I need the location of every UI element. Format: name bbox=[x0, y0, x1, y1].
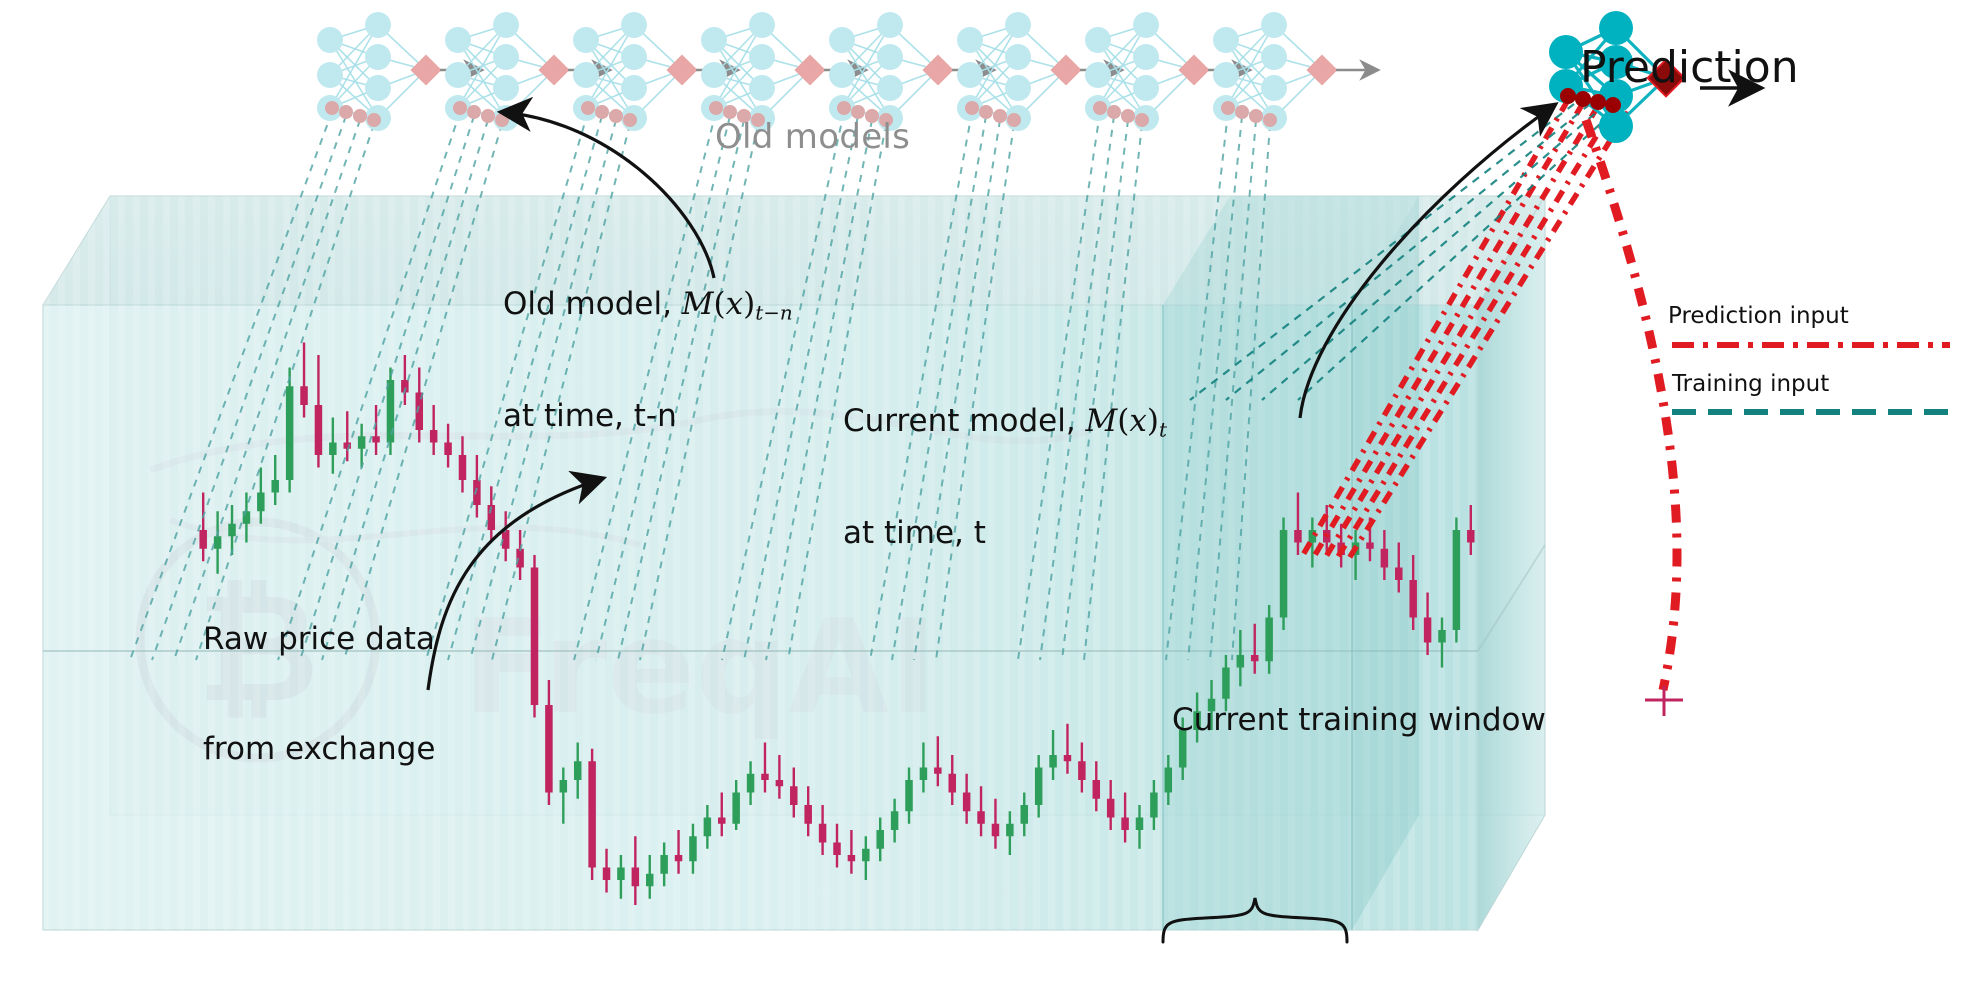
old-model-networks bbox=[317, 12, 1376, 131]
old-network-8 bbox=[1213, 12, 1376, 131]
raw-line1: Raw price data bbox=[203, 621, 435, 658]
current-model-math-m: M bbox=[1086, 403, 1118, 439]
old-model-prefix: Old model, bbox=[503, 286, 682, 322]
current-training-window-label: Current training window bbox=[1172, 702, 1546, 739]
diagram-canvas: ₿ FreqAI bbox=[0, 0, 1966, 981]
old-models-label: Old models bbox=[715, 117, 910, 157]
current-model-math-sub: t bbox=[1159, 419, 1167, 442]
old-model-math-paren: ( bbox=[714, 286, 726, 322]
old-model-line2: at time, t-n bbox=[503, 398, 793, 435]
training-window-band bbox=[1163, 196, 1419, 930]
current-model-annotation: Current model, M(x)t at time, t bbox=[843, 330, 1167, 625]
current-model-prefix: Current model, bbox=[843, 403, 1086, 439]
current-model-math-paren: ( bbox=[1117, 403, 1129, 439]
old-model-math-m: M bbox=[682, 286, 714, 322]
old-model-math-var: x bbox=[726, 286, 743, 322]
prediction-label: Prediction bbox=[1580, 42, 1799, 94]
current-model-math-paren-close: ) bbox=[1147, 403, 1159, 439]
old-model-math-paren-close: ) bbox=[743, 286, 755, 322]
current-model-line2: at time, t bbox=[843, 515, 1167, 552]
legend-training-input-label: Training input bbox=[1672, 371, 1829, 398]
prediction-curve bbox=[1586, 120, 1677, 690]
raw-line2: from exchange bbox=[203, 731, 435, 768]
old-model-math-sub: t−n bbox=[755, 302, 792, 325]
legend-prediction-input-label: Prediction input bbox=[1668, 303, 1849, 330]
raw-price-data-annotation: Raw price data from exchange bbox=[203, 548, 435, 841]
current-model-math-var: x bbox=[1129, 403, 1146, 439]
old-model-annotation: Old model, M(x)t−n at time, t-n bbox=[503, 213, 793, 508]
